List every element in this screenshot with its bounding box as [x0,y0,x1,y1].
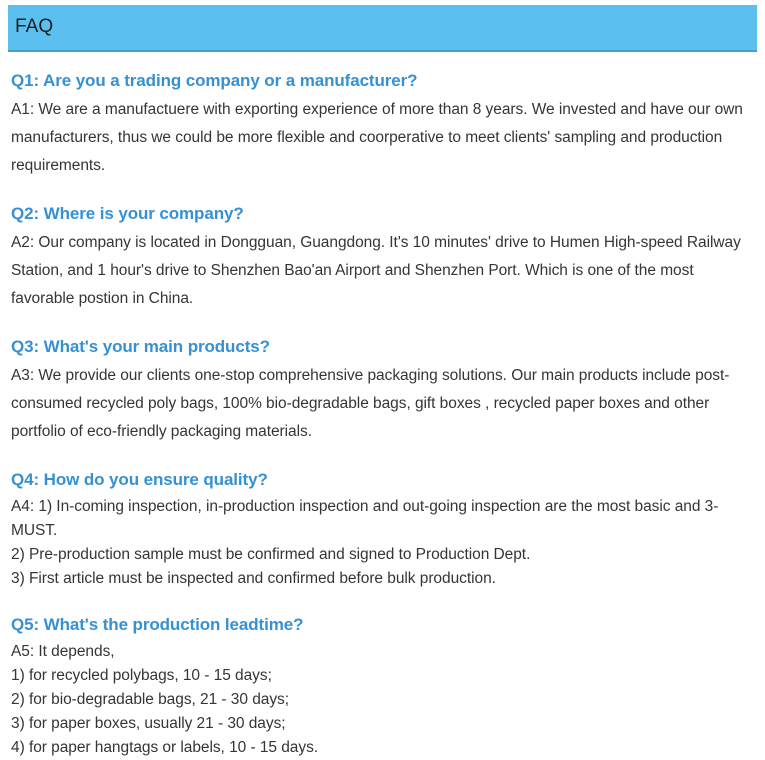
faq-answer: A1: We are a manufactuere with exporting… [11,96,753,180]
faq-answer: A2: Our company is located in Dongguan, … [11,229,753,313]
faq-answer: A4: 1) In-coming inspection, in-producti… [11,495,753,591]
faq-item: Q5: What's the production leadtime?A5: I… [11,612,753,760]
faq-list: Q1: Are you a trading company or a manuf… [11,68,753,760]
faq-item: Q3: What's your main products?A3: We pro… [11,334,753,446]
faq-answer-line: A3: We provide our clients one-stop comp… [11,362,753,446]
faq-answer-line: 2) for bio-degradable bags, 21 - 30 days… [11,688,753,712]
faq-answer-line: A5: It depends, [11,640,753,664]
faq-question: Q2: Where is your company? [11,201,753,227]
faq-answer-line: A2: Our company is located in Dongguan, … [11,229,753,313]
faq-item: Q4: How do you ensure quality?A4: 1) In-… [11,467,753,591]
faq-question: Q3: What's your main products? [11,334,753,360]
faq-answer-line: 4) for paper hangtags or labels, 10 - 15… [11,736,753,760]
faq-item: Q1: Are you a trading company or a manuf… [11,68,753,180]
faq-answer-line: 3) for paper boxes, usually 21 - 30 days… [11,712,753,736]
faq-item: Q2: Where is your company?A2: Our compan… [11,201,753,313]
faq-question: Q1: Are you a trading company or a manuf… [11,68,753,94]
faq-answer: A5: It depends,1) for recycled polybags,… [11,640,753,760]
faq-answer-line: 1) for recycled polybags, 10 - 15 days; [11,664,753,688]
page-title: FAQ [15,16,53,38]
faq-answer: A3: We provide our clients one-stop comp… [11,362,753,446]
faq-answer-line: 2) Pre-production sample must be confirm… [11,543,753,567]
faq-page: FAQ Q1: Are you a trading company or a m… [0,0,765,748]
faq-question: Q4: How do you ensure quality? [11,467,753,493]
faq-answer-line: A4: 1) In-coming inspection, in-producti… [11,495,753,543]
faq-answer-line: 3) First article must be inspected and c… [11,567,753,591]
faq-header-bar: FAQ [8,5,757,52]
faq-answer-line: A1: We are a manufactuere with exporting… [11,96,753,180]
faq-question: Q5: What's the production leadtime? [11,612,753,638]
